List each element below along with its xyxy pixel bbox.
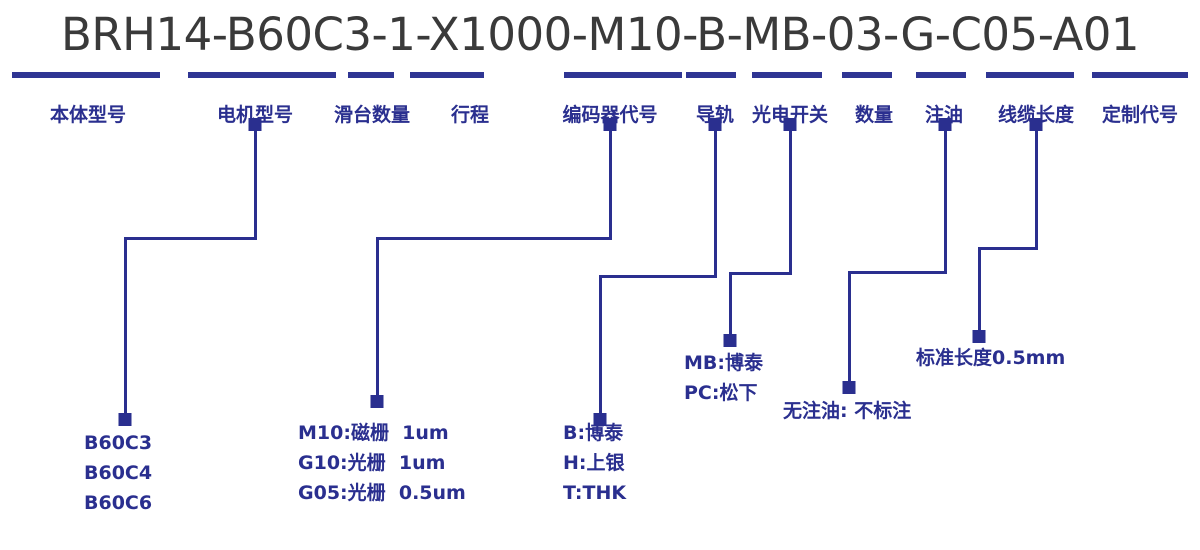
body-model-options-item: B60C3 <box>84 428 152 458</box>
photo-switch-options-item: PC:松下 <box>684 378 763 408</box>
rail-options: B:博泰H:上银T:THK <box>563 418 626 508</box>
leader-cable-length-bottom-node <box>973 330 986 343</box>
encoder-code-options-item: G10:光栅 1um <box>298 448 466 478</box>
encoder-code-options-item: G05:光栅 0.5um <box>298 478 466 508</box>
leader-cable-length-lower-vertical <box>978 247 981 330</box>
quantity-options-item: 无注油: 不标注 <box>783 396 911 426</box>
rail-options-item: B:博泰 <box>563 418 626 448</box>
model-code-breakdown-diagram: BRH14-B60C3-1-X1000-M10-B-MB-03-G-C05-A0… <box>0 0 1200 550</box>
quantity-options: 无注油: 不标注 <box>783 396 911 426</box>
photo-switch-options: MB:博泰PC:松下 <box>684 348 763 408</box>
body-model-options-item: B60C4 <box>84 458 152 488</box>
encoder-code-options: M10:磁栅 1umG10:光栅 1umG05:光栅 0.5um <box>298 418 466 508</box>
encoder-code-options-item: M10:磁栅 1um <box>298 418 466 448</box>
cable-length-options: 标准长度0.5mm <box>916 343 1065 373</box>
photo-switch-options-item: MB:博泰 <box>684 348 763 378</box>
cable-length-options-item: 标准长度0.5mm <box>916 343 1065 373</box>
body-model-options-item: B60C6 <box>84 488 152 518</box>
rail-options-item: T:THK <box>563 478 626 508</box>
rail-options-item: H:上银 <box>563 448 626 478</box>
body-model-options: B60C3B60C4B60C6 <box>84 428 152 518</box>
leader-cable-length-horizontal <box>978 247 1038 250</box>
leader-cable-length-upper-vertical <box>1035 128 1038 247</box>
